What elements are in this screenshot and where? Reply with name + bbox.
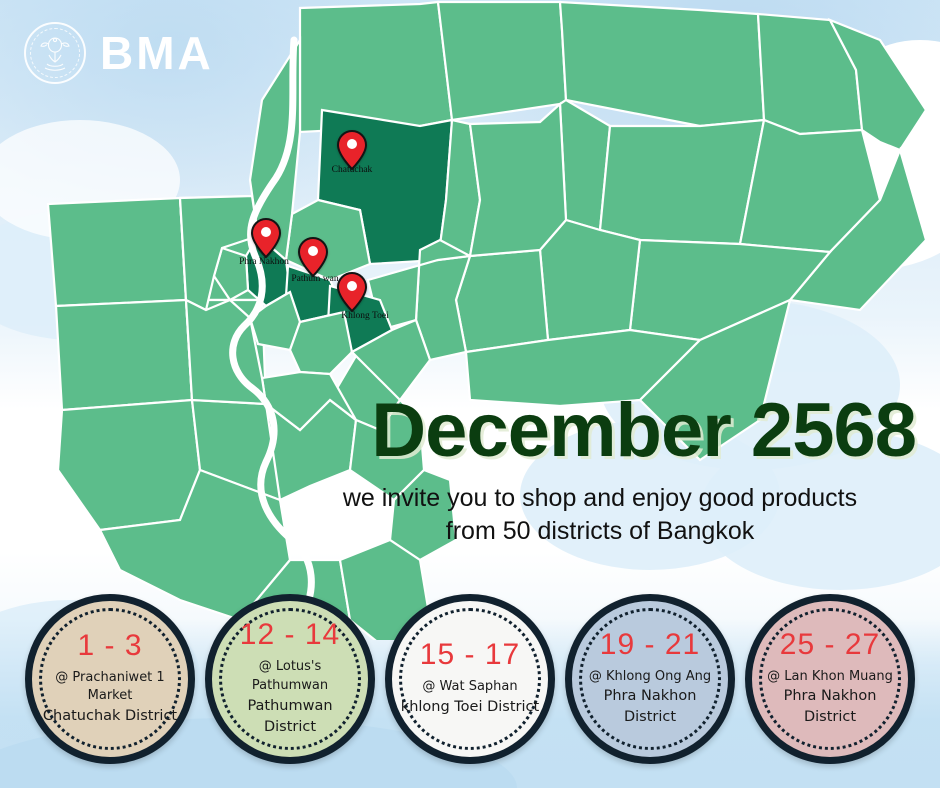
- map-pin-khlong-toei[interactable]: [337, 272, 367, 312]
- badge-district: Phra Nakhon District: [752, 686, 908, 728]
- bma-seal-icon: [24, 22, 86, 84]
- event-badge[interactable]: 25 - 27 @ Lan Khon Muang Phra Nakhon Dis…: [745, 594, 915, 764]
- event-badge[interactable]: 1 - 3 @ Prachaniwet 1 Market Chatuchak D…: [25, 594, 195, 764]
- map-pin-label-khlong-toei: Khlong Toei: [341, 311, 388, 321]
- subtitle-line-2: from 50 districts of Bangkok: [284, 515, 916, 549]
- subtitle-line-1: we invite you to shop and enjoy good pro…: [284, 482, 916, 516]
- badge-date-range: 19 - 21: [600, 630, 700, 660]
- event-badge[interactable]: 15 - 17 @ Wat Saphan khlong Toei Distric…: [385, 594, 555, 764]
- poster-canvas: Chatuchak Phra Nakhon Pathum wan Khlong …: [0, 0, 940, 788]
- map-pin-pathum-wan[interactable]: [298, 237, 328, 277]
- map-pin-label-phra-nakhon: Phra Nakhon: [239, 257, 289, 267]
- badge-district: Phra Nakhon District: [572, 686, 728, 728]
- badge-date-range: 12 - 14: [240, 620, 340, 650]
- event-badge[interactable]: 19 - 21 @ Khlong Ong Ang Phra Nakhon Dis…: [565, 594, 735, 764]
- badge-venue: @ Khlong Ong Ang: [579, 668, 721, 687]
- map-pin-phra-nakhon[interactable]: [251, 218, 281, 258]
- badge-venue: @ Wat Saphan: [412, 678, 527, 697]
- map-pin-label-chatuchak: Chatuchak: [332, 165, 373, 175]
- event-badge[interactable]: 12 - 14 @ Lotus's Pathumwan Pathumwan Di…: [205, 594, 375, 764]
- badge-date-range: 25 - 27: [780, 630, 880, 660]
- map-pin-label-pathum-wan: Pathum wan: [291, 274, 338, 284]
- map-pin-chatuchak[interactable]: [337, 130, 367, 170]
- page-title: December 2568: [276, 392, 916, 470]
- badge-date-range: 1 - 3: [77, 631, 142, 661]
- badge-venue: @ Lotus's Pathumwan: [212, 658, 368, 696]
- badge-district: Chatuchak District: [35, 706, 185, 727]
- badge-date-range: 15 - 17: [420, 640, 520, 670]
- headline-block: December 2568 we invite you to shop and …: [276, 392, 916, 549]
- brand-name: BMA: [100, 30, 214, 76]
- badge-district: khlong Toei District: [393, 697, 547, 718]
- subtitle: we invite you to shop and enjoy good pro…: [276, 482, 916, 550]
- brand-lockup: BMA: [24, 22, 214, 84]
- event-badge-row: 1 - 3 @ Prachaniwet 1 Market Chatuchak D…: [0, 594, 940, 764]
- badge-venue: @ Prachaniwet 1 Market: [32, 669, 188, 707]
- badge-venue: @ Lan Khon Muang: [757, 668, 903, 687]
- badge-district: Pathumwan District: [212, 696, 368, 738]
